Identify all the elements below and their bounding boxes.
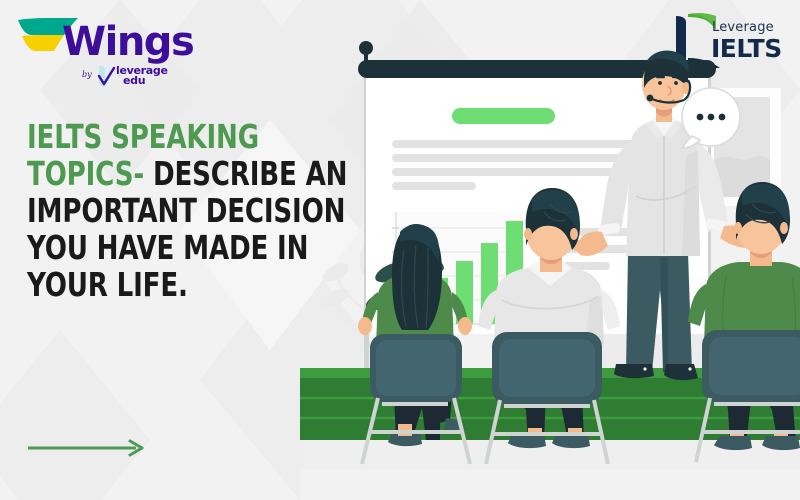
- headline-line-2: TOPICS- DESCRIBE AN: [27, 155, 317, 192]
- headline-line-1: IELTS SPEAKING: [27, 118, 317, 155]
- leverage-edu-sublogo: leverage edu: [116, 66, 168, 86]
- speech-bubble-dots: [697, 114, 726, 121]
- headline-line-2-green: TOPICS-: [27, 154, 153, 193]
- presentation-illustration: [300, 0, 800, 500]
- poster-canvas: Wings by leverage edu Leverage IELTS IEL…: [0, 0, 800, 500]
- leverage-edu-check-icon: [96, 64, 116, 90]
- headline-line-4: YOU HAVE MADE IN: [27, 229, 317, 266]
- headline-line-3: IMPORTANT DECISION: [27, 192, 317, 229]
- read-more-arrow-icon[interactable]: [26, 437, 151, 459]
- wings-wordmark: Wings: [62, 22, 193, 62]
- edu-word: edu: [123, 76, 168, 86]
- wings-by-label: by: [82, 70, 92, 79]
- wings-logo[interactable]: Wings by leverage edu: [16, 8, 186, 103]
- presenter-shoe-left: [614, 364, 654, 378]
- slide-title-block: [452, 108, 555, 124]
- presenter-shoe-right: [664, 364, 698, 380]
- headline-line-5: YOUR LIFE.: [27, 266, 317, 303]
